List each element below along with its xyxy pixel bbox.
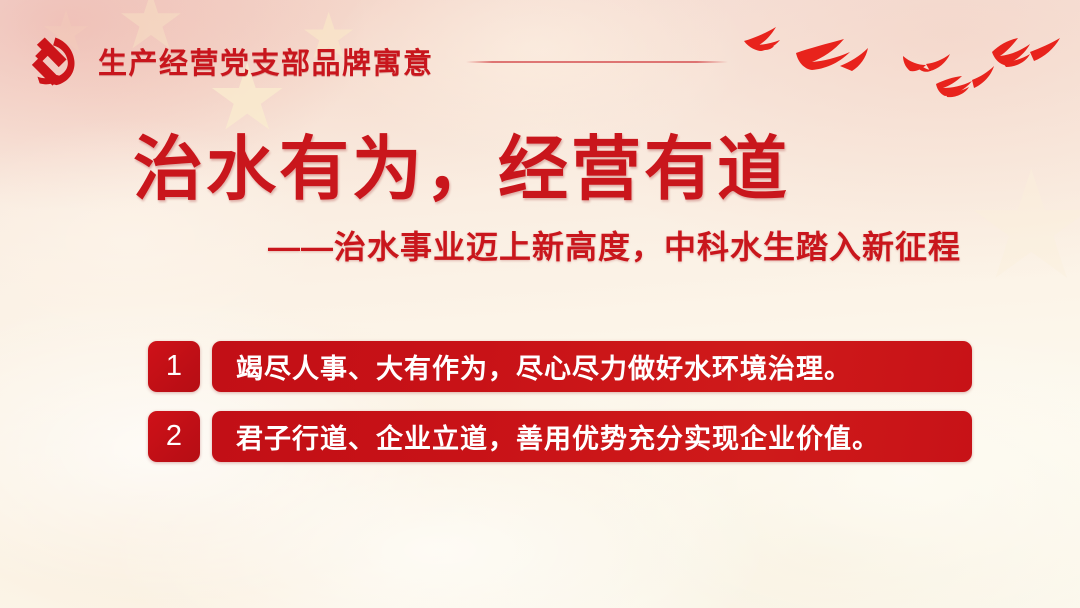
slide-canvas: ★ ★ ★ ★ ★ <box>0 0 1080 608</box>
points-list: 1 竭尽人事、大有作为，尽心尽力做好水环境治理。 2 君子行道、企业立道，善用优… <box>148 341 972 462</box>
point-bar: 竭尽人事、大有作为，尽心尽力做好水环境治理。 <box>212 341 972 392</box>
page-title: 生产经营党支部品牌寓意 <box>98 40 434 82</box>
point-bar: 君子行道、企业立道，善用优势充分实现企业价值。 <box>212 411 972 462</box>
point-text: 君子行道、企业立道，善用优势充分实现企业价值。 <box>212 417 906 456</box>
header-divider <box>466 61 728 63</box>
point-number-badge: 2 <box>148 411 200 462</box>
flying-birds-icon <box>740 8 1080 128</box>
star-icon: ★ <box>964 150 1080 300</box>
point-number-badge: 1 <box>148 341 200 392</box>
subtitle: ——治水事业迈上新高度，中科水生踏入新征程 <box>268 222 961 268</box>
list-item: 2 君子行道、企业立道，善用优势充分实现企业价值。 <box>148 411 972 462</box>
hammer-and-sickle-icon <box>24 33 80 89</box>
list-item: 1 竭尽人事、大有作为，尽心尽力做好水环境治理。 <box>148 341 972 392</box>
point-text: 竭尽人事、大有作为，尽心尽力做好水环境治理。 <box>212 347 878 386</box>
main-title: 治水有为，经营有道 <box>133 113 790 214</box>
slide-header: 生产经营党支部品牌寓意 <box>24 30 434 92</box>
